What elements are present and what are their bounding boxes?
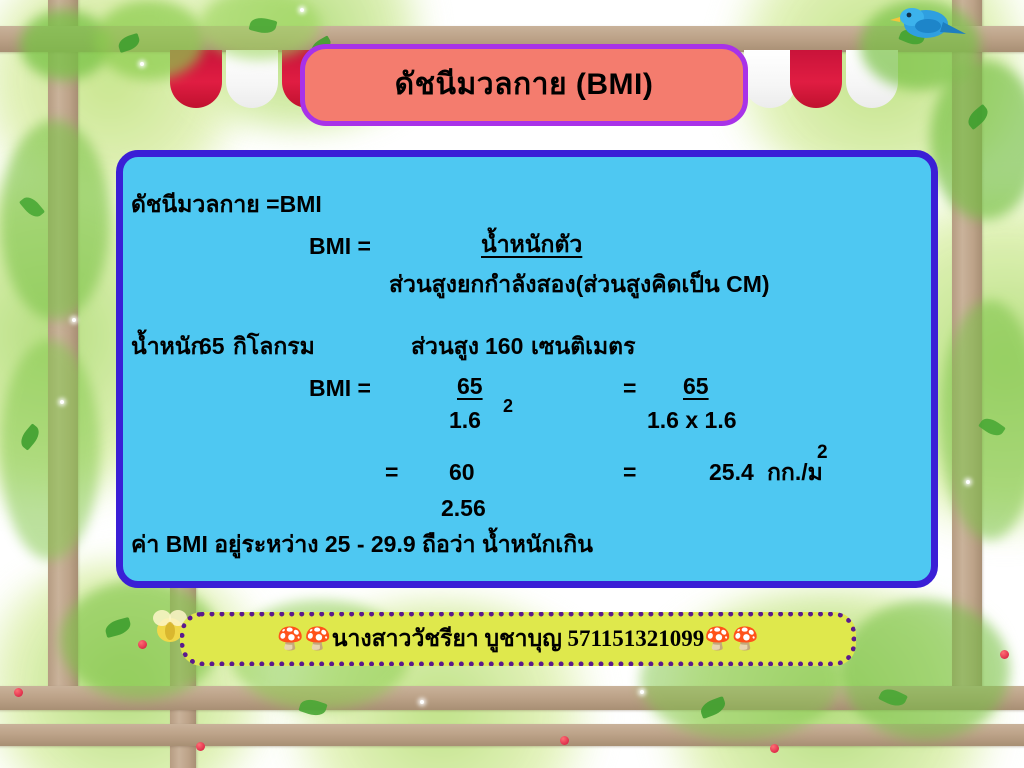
berry bbox=[560, 736, 569, 745]
leaf-cluster bbox=[0, 340, 100, 560]
calc1-exponent: 2 bbox=[503, 397, 513, 415]
bunting-flag bbox=[744, 50, 796, 108]
leaf-cluster bbox=[95, 0, 205, 80]
given-height-label: ส่วนสูง bbox=[411, 335, 479, 358]
leaf-cluster bbox=[0, 120, 110, 320]
leaf-cluster bbox=[840, 600, 1010, 740]
sparkle bbox=[640, 690, 644, 694]
calc3-numerator: 60 bbox=[449, 461, 475, 484]
author-name: นางสาววัชรียา บูชาบุญ 571151321099 bbox=[332, 621, 705, 657]
equals-sign: = bbox=[623, 377, 636, 400]
calc2-denominator: 1.6 x 1.6 bbox=[647, 409, 737, 432]
result-unit: กก./ม bbox=[767, 461, 823, 484]
given-weight-unit: กิโลกรม bbox=[233, 335, 315, 358]
given-height-value: 160 bbox=[485, 335, 523, 358]
result-exponent: 2 bbox=[817, 443, 828, 462]
conclusion-line: ค่า BMI อยู่ระหว่าง 25 - 29.9 ถือว่า น้ำ… bbox=[131, 533, 593, 556]
fence-rail-bottom-2 bbox=[0, 724, 1024, 746]
line-bmi-definition: ดัชนีมวลกาย =BMI bbox=[131, 193, 322, 216]
calc1-numerator: 65 bbox=[457, 375, 483, 398]
sparkle bbox=[420, 700, 424, 704]
berry bbox=[770, 744, 779, 753]
blue-bird-icon bbox=[888, 0, 968, 48]
given-weight-value: 65 bbox=[199, 335, 225, 358]
slide-title: ดัชนีมวลกาย (BMI) bbox=[395, 70, 654, 100]
equals-sign: = bbox=[385, 461, 398, 484]
sparkle bbox=[966, 480, 970, 484]
calc1-denominator: 1.6 bbox=[449, 409, 481, 432]
formula-denominator: ส่วนสูงยกกำลังสอง(ส่วนสูงคิดเป็น CM) bbox=[389, 273, 770, 296]
berry bbox=[196, 742, 205, 751]
calc-label: BMI = bbox=[309, 377, 371, 400]
content-panel: ดัชนีมวลกาย =BMI BMI = น้ำหนักตัว ส่วนสู… bbox=[116, 150, 938, 588]
mushroom-icon-right: 🍄🍄 bbox=[704, 628, 759, 650]
berry bbox=[14, 688, 23, 697]
given-height-unit: เซนติเมตร bbox=[531, 335, 635, 358]
berry bbox=[1000, 650, 1009, 659]
sparkle bbox=[140, 62, 144, 66]
given-weight-label: น้ำหนัก bbox=[131, 335, 204, 358]
result-value: 25.4 bbox=[709, 461, 754, 484]
sparkle bbox=[60, 400, 64, 404]
equals-sign: = bbox=[623, 461, 636, 484]
footer-banner: 🍄🍄 นางสาววัชรียา บูชาบุญ 571151321099 🍄🍄 bbox=[180, 612, 856, 666]
sparkle bbox=[300, 8, 304, 12]
sparkle bbox=[72, 318, 76, 322]
slide-title-plaque: ดัชนีมวลกาย (BMI) bbox=[300, 44, 748, 126]
berry bbox=[138, 640, 147, 649]
bunting-flag bbox=[790, 50, 842, 108]
calc2-numerator: 65 bbox=[683, 375, 709, 398]
mushroom-icon-left: 🍄🍄 bbox=[277, 628, 332, 650]
calc3-denominator: 2.56 bbox=[441, 497, 486, 520]
formula-label: BMI = bbox=[309, 235, 371, 258]
formula-numerator: น้ำหนักตัว bbox=[481, 233, 582, 256]
